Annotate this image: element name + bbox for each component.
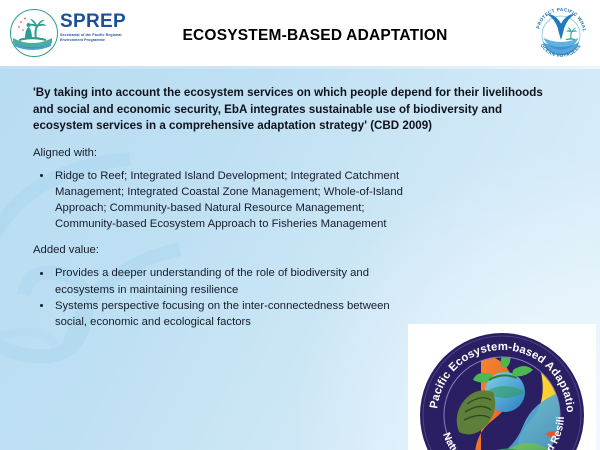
header-divider <box>0 66 600 69</box>
pebacc-circular-logo: Pacific Ecosystem-based Adaptation to Cl… <box>417 330 587 450</box>
aligned-with-list: Ridge to Reef; Integrated Island Develop… <box>33 168 413 233</box>
slide-content: 'By taking into account the ecosystem se… <box>33 85 566 330</box>
slide-header: SPREP Secretariat of the Pacific Regiona… <box>0 0 600 66</box>
definition-quote: 'By taking into account the ecosystem se… <box>33 85 553 135</box>
bullet-dot-icon <box>40 304 43 307</box>
sprep-logo: SPREP Secretariat of the Pacific Regiona… <box>10 7 145 57</box>
list-item: Systems perspective focusing on the inte… <box>33 298 413 330</box>
bullet-dot-icon <box>40 272 43 275</box>
sprep-name: SPREP <box>60 12 145 32</box>
slide: SPREP Secretariat of the Pacific Regiona… <box>0 0 600 450</box>
page-title: ECOSYSTEM-BASED ADAPTATION <box>150 27 480 45</box>
slide-body: 'By taking into account the ecosystem se… <box>0 69 600 450</box>
list-item: Provides a deeper understanding of the r… <box>33 265 413 297</box>
list-item-label: Ridge to Reef; Integrated Island Develop… <box>55 170 403 231</box>
added-value-list: Provides a deeper understanding of the r… <box>33 265 413 330</box>
bullet-dot-icon <box>40 174 43 177</box>
sprep-tagline-line2: Environment Programme <box>60 38 145 43</box>
whale-tail-icon: PROTECT PACIFIC WHALES OCEAN VOYAGERS <box>530 2 592 64</box>
list-item-label: Systems perspective focusing on the inte… <box>55 300 390 328</box>
sprep-island-icon-svg <box>11 10 54 53</box>
list-item-label: Provides a deeper understanding of the r… <box>55 267 369 295</box>
sprep-island-icon <box>10 9 58 57</box>
protect-pacific-whales-logo: PROTECT PACIFIC WHALES OCEAN VOYAGERS <box>530 2 592 64</box>
added-value-heading: Added value: <box>33 242 566 258</box>
pebacc-logo-panel: Pacific Ecosystem-based Adaptation to Cl… <box>408 324 596 450</box>
list-item: Ridge to Reef; Integrated Island Develop… <box>33 168 413 233</box>
aligned-with-heading: Aligned with: <box>33 145 566 161</box>
sprep-wordmark: SPREP Secretariat of the Pacific Regiona… <box>60 12 145 42</box>
